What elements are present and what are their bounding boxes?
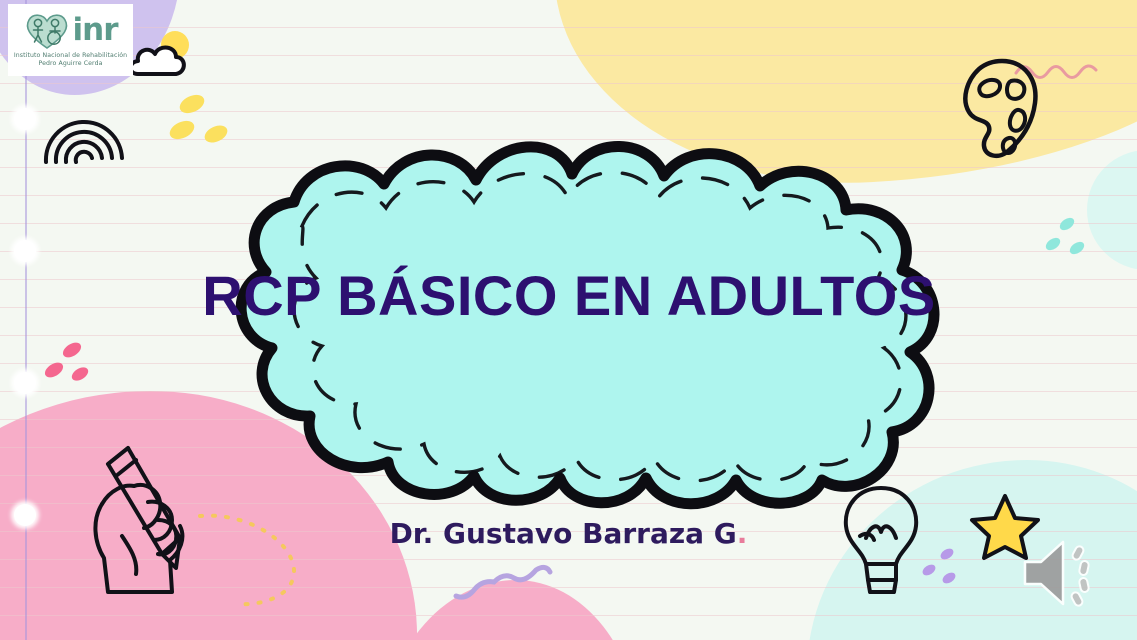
speaker-icon[interactable] xyxy=(1017,534,1109,612)
inr-logo-subtitle: Instituto Nacional de Rehabilitación Ped… xyxy=(14,52,127,68)
paper-hole xyxy=(14,240,36,262)
subtitle-name: Dr. Gustavo Barraza G xyxy=(390,517,737,550)
artist-palette-icon xyxy=(957,56,1043,166)
paper-hole xyxy=(14,372,36,394)
purple-squiggle-icon xyxy=(452,562,562,602)
inr-logo: inr Instituto Nacional de Rehabilitación… xyxy=(8,4,133,76)
subtitle-period: . xyxy=(737,517,748,550)
slide-subtitle: Dr. Gustavo Barraza G. xyxy=(0,517,1137,550)
rainbow-icon xyxy=(40,96,130,168)
paper-hole xyxy=(14,108,36,130)
presentation-slide: inr Instituto Nacional de Rehabilitación… xyxy=(0,0,1137,640)
cyan-edge-blob xyxy=(1087,150,1137,270)
inr-logo-line1: Instituto Nacional de Rehabilitación xyxy=(14,52,127,60)
cyan-dot-cluster xyxy=(1035,214,1091,262)
heart-figures-icon xyxy=(24,12,70,50)
slide-title: RCP BÁSICO EN ADULTOS xyxy=(176,263,962,328)
inr-wordmark: inr xyxy=(73,17,118,45)
cloud-sun-icon xyxy=(126,24,204,88)
pink-dot-cluster xyxy=(36,338,100,390)
title-card: RCP BÁSICO EN ADULTOS xyxy=(176,140,962,500)
inr-logo-mark-row: inr xyxy=(24,12,118,50)
inr-logo-line2: Pedro Aguirre Cerda xyxy=(14,60,127,68)
